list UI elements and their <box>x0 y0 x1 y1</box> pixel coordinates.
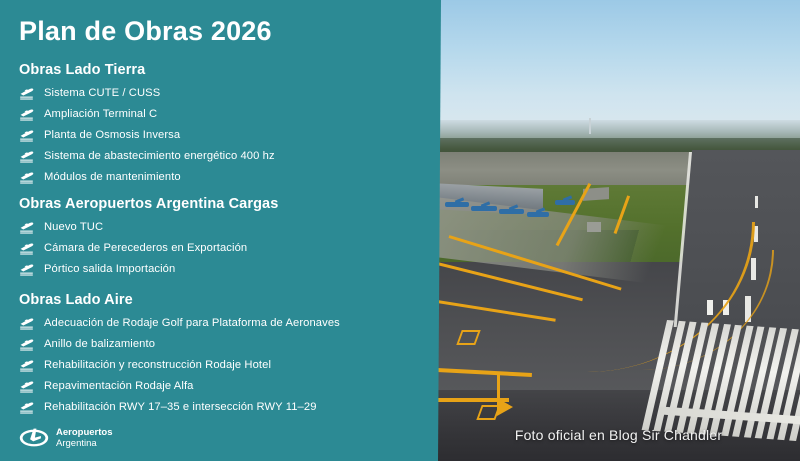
photo-aircraft <box>471 206 497 211</box>
list-item-label: Nuevo TUC <box>44 221 103 234</box>
airplane-takeoff-icon <box>19 263 36 276</box>
section-obras-lado-tierra: Obras Lado Tierra Sistema CUTE / CUSS <box>19 62 275 192</box>
airplane-takeoff-icon <box>19 242 36 255</box>
airplane-takeoff-icon <box>19 359 36 372</box>
logo-wordmark: Aeropuertos Argentina <box>56 427 112 449</box>
section-heading: Obras Aeropuertos Argentina Cargas <box>19 196 278 212</box>
list-item-label: Pórtico salida Importación <box>44 263 175 276</box>
list-item-label: Sistema CUTE / CUSS <box>44 87 160 100</box>
photo-taxiway-arrow <box>497 398 513 416</box>
slide-root: Foto oficial en Blog Sir Chandler Plan d… <box>0 0 800 461</box>
logo-line-2: Argentina <box>56 438 112 449</box>
list-item: Nuevo TUC <box>19 221 278 234</box>
airplane-takeoff-icon <box>19 221 36 234</box>
aeropuertos-argentina-logo: Aeropuertos Argentina <box>19 427 112 449</box>
list-item-label: Rehabilitación y reconstrucción Rodaje H… <box>44 359 271 372</box>
airplane-takeoff-icon <box>19 129 36 142</box>
list-item-label: Planta de Osmosis Inversa <box>44 129 180 142</box>
list-item: Sistema de abastecimiento energético 400… <box>19 150 275 163</box>
list-item: Repavimentación Rodaje Alfa <box>19 380 340 393</box>
aeropuertos-argentina-logo-icon <box>19 427 49 449</box>
list-item: Planta de Osmosis Inversa <box>19 129 275 142</box>
photo-sky <box>437 0 800 140</box>
list-item: Pórtico salida Importación <box>19 263 278 276</box>
list-item-label: Ampliación Terminal C <box>44 108 157 121</box>
airplane-takeoff-icon <box>19 108 36 121</box>
airplane-takeoff-icon <box>19 380 36 393</box>
list-item-label: Adecuación de Rodaje Golf para Plataform… <box>44 317 340 330</box>
list-item-label: Sistema de abastecimiento energético 400… <box>44 150 275 163</box>
list-item-label: Anillo de balizamiento <box>44 338 155 351</box>
list-item: Adecuación de Rodaje Golf para Plataform… <box>19 317 340 330</box>
section-heading: Obras Lado Aire <box>19 292 340 308</box>
list-item: Rehabilitación RWY 17–35 e intersección … <box>19 401 340 414</box>
section-item-list: Nuevo TUC Cámara de Perecederos en Expor… <box>19 221 278 276</box>
airplane-takeoff-icon <box>19 401 36 414</box>
section-heading: Obras Lado Tierra <box>19 62 275 78</box>
logo-line-1: Aeropuertos <box>56 427 112 438</box>
photo-caption: Foto oficial en Blog Sir Chandler <box>437 427 800 443</box>
airplane-takeoff-icon <box>19 150 36 163</box>
list-item: Módulos de mantenimiento <box>19 171 275 184</box>
airplane-takeoff-icon <box>19 317 36 330</box>
list-item: Rehabilitación y reconstrucción Rodaje H… <box>19 359 340 372</box>
list-item-label: Repavimentación Rodaje Alfa <box>44 380 193 393</box>
section-item-list: Adecuación de Rodaje Golf para Plataform… <box>19 317 340 414</box>
photo-aircraft <box>445 202 469 207</box>
section-item-list: Sistema CUTE / CUSS Ampliación Terminal … <box>19 87 275 184</box>
section-obras-lado-aire: Obras Lado Aire Adecuación de Rodaje Gol… <box>19 292 340 422</box>
list-item: Anillo de balizamiento <box>19 338 340 351</box>
airplane-takeoff-icon <box>19 171 36 184</box>
photo-control-tower <box>589 118 591 134</box>
section-obras-aeropuertos-argentina-cargas: Obras Aeropuertos Argentina Cargas Nuevo… <box>19 196 278 284</box>
photo-aircraft <box>527 212 549 217</box>
list-item: Ampliación Terminal C <box>19 108 275 121</box>
photo-aircraft <box>499 209 524 214</box>
list-item: Cámara de Perecederos en Exportación <box>19 242 278 255</box>
airport-aerial-runway-photo: Foto oficial en Blog Sir Chandler <box>437 0 800 461</box>
list-item-label: Rehabilitación RWY 17–35 e intersección … <box>44 401 317 414</box>
page-title: Plan de Obras 2026 <box>19 16 272 47</box>
content-panel: Plan de Obras 2026 Obras Lado Tierra Sis… <box>0 0 441 461</box>
list-item-label: Módulos de mantenimiento <box>44 171 181 184</box>
list-item: Sistema CUTE / CUSS <box>19 87 275 100</box>
airplane-takeoff-icon <box>19 338 36 351</box>
list-item-label: Cámara de Perecederos en Exportación <box>44 242 247 255</box>
photo-runway-centerline-dash <box>755 196 758 208</box>
photo-runway-threshold-markings <box>642 320 800 442</box>
photo-aircraft <box>555 200 575 205</box>
airplane-takeoff-icon <box>19 87 36 100</box>
